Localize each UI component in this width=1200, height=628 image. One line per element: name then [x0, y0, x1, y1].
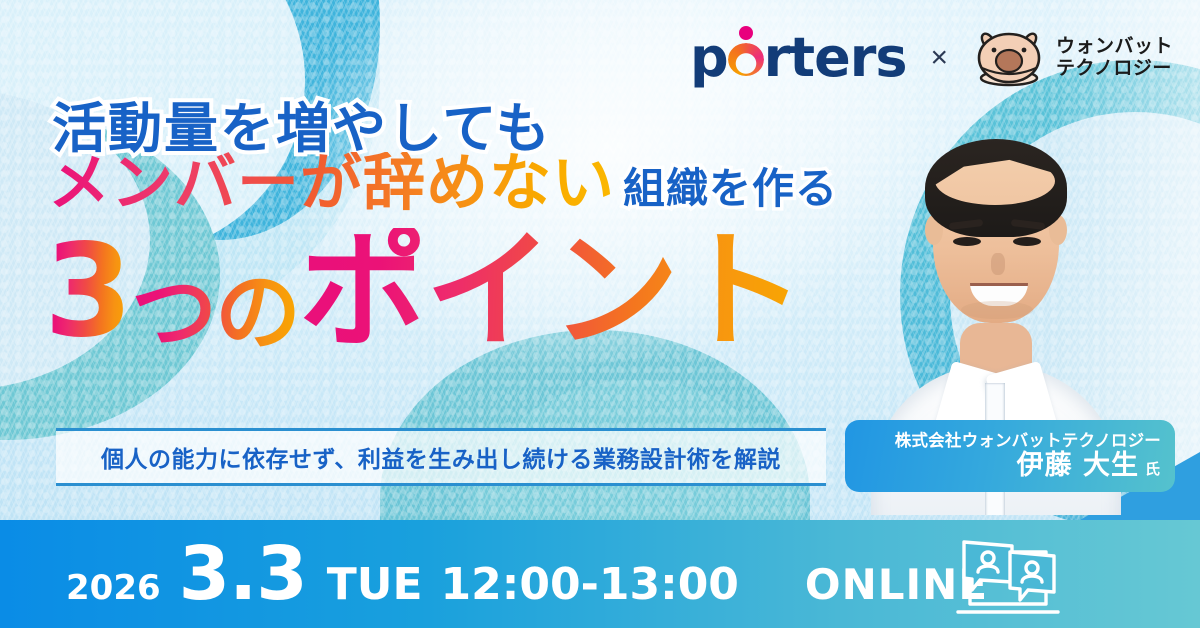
headline-line-2-blue: 組織を作る	[623, 164, 838, 214]
headline-line-2-gradient: メンバーが辞めない	[48, 152, 615, 214]
porters-logo: p rters	[690, 31, 907, 85]
event-info-text: 2026 3.3 TUE 12:00-13:00 ONLINE	[0, 531, 988, 617]
subtitle-band: 個人の能力に依存せず、利益を生み出し続ける業務設計術を解説	[56, 428, 826, 486]
speaker-name-row: 伊藤 大生 氏	[1017, 450, 1161, 481]
event-year: 2026	[66, 568, 161, 608]
wombat-mascot-icon	[972, 28, 1046, 88]
wombat-technology-logo: ウォンバット テクノロジー	[972, 28, 1173, 88]
speaker-name-plate: 株式会社ウォンバットテクノロジー 伊藤 大生 氏	[845, 420, 1175, 492]
online-meeting-icon	[950, 536, 1066, 625]
headline-line-2: メンバーが辞めない 組織を作る	[48, 152, 838, 214]
headline-number: 3	[44, 228, 131, 356]
porters-logo-post: rters	[764, 31, 907, 85]
speaker-honorific: 氏	[1145, 461, 1161, 478]
speaker-organization: 株式会社ウォンバットテクノロジー	[895, 431, 1161, 451]
wombat-logo-line1: ウォンバット	[1056, 37, 1173, 57]
headline-point-word: ポイント	[299, 228, 803, 356]
person-o-icon	[728, 32, 764, 76]
headline-counter: つの	[131, 270, 299, 356]
webinar-banner: p rters × ウォンバット	[0, 0, 1200, 628]
headline-line-3: 3 つの ポイント	[44, 228, 803, 356]
logo-row: p rters × ウォンバット	[690, 28, 1173, 88]
event-day: 3.3	[179, 531, 307, 617]
speaker-name: 伊藤 大生	[1017, 450, 1139, 481]
event-time: 12:00-13:00	[441, 559, 739, 610]
logo-separator-icon: ×	[931, 41, 949, 75]
wombat-logo-text: ウォンバット テクノロジー	[1056, 37, 1173, 79]
subtitle-text: 個人の能力に依存せず、利益を生み出し続ける業務設計術を解説	[101, 440, 781, 474]
porters-logo-pre: p	[690, 31, 728, 85]
event-weekday: TUE	[327, 559, 423, 610]
wombat-logo-line2: テクノロジー	[1056, 59, 1173, 79]
